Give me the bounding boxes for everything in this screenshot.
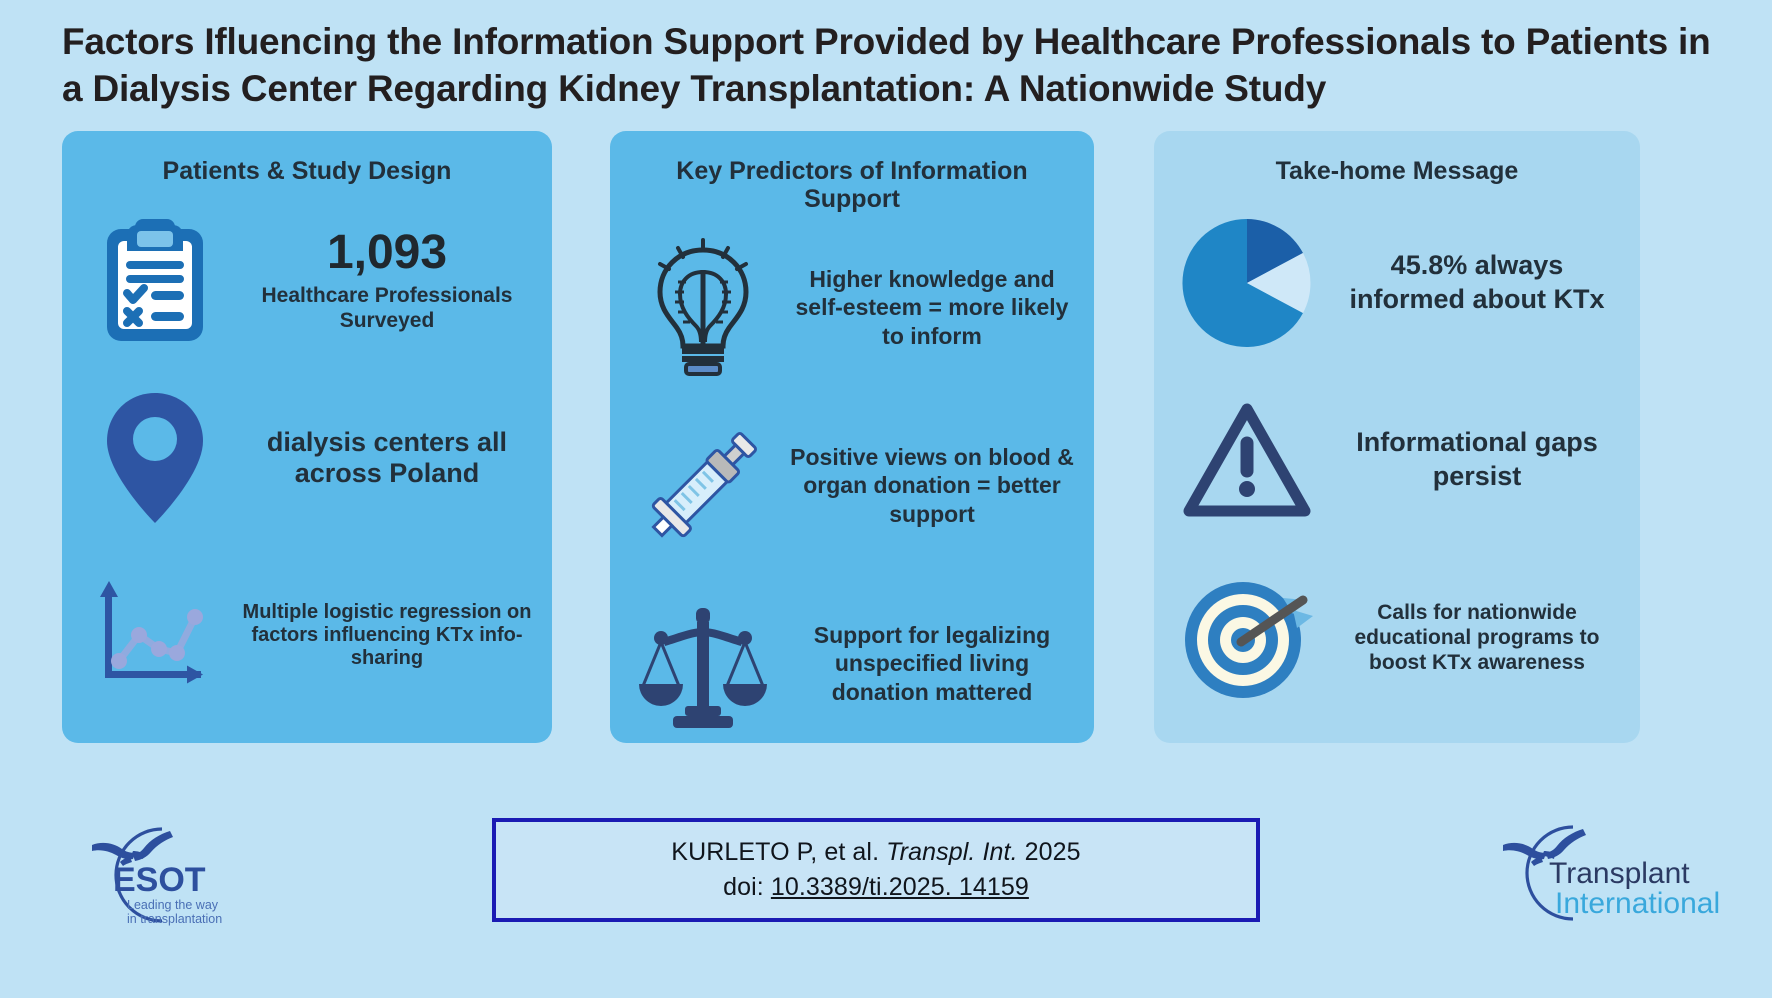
citation-reference: KURLETO P, et al. Transpl. Int. 2025 — [671, 838, 1080, 867]
stat-number-surveyed: 1,093 — [240, 229, 534, 277]
panel-heading-patients: Patients & Study Design — [80, 157, 534, 185]
svg-text:in transplantation: in transplantation — [127, 912, 222, 926]
panel-row-education-programs: Calls for nationwide educational program… — [1172, 548, 1622, 728]
panel-row-legalizing: Support for legalizing unspecified livin… — [628, 575, 1076, 753]
citation-doi-line: doi: 10.3389/ti.2025. 14159 — [723, 873, 1029, 902]
citation-year: 2025 — [1025, 838, 1081, 866]
title-section: Factors Ifluencing the Information Suppo… — [0, 0, 1772, 119]
clipboard-checklist-icon — [80, 213, 230, 349]
svg-text:ESOT: ESOT — [113, 861, 206, 899]
ti-line1: Transplant — [1549, 857, 1690, 890]
target-arrow-icon — [1172, 570, 1322, 706]
map-pin-icon — [80, 389, 230, 527]
citation-box: KURLETO P, et al. Transpl. Int. 2025 doi… — [492, 818, 1260, 922]
syringe-icon — [628, 416, 778, 556]
doi-link[interactable]: 10.3389/ti.2025. 14159 — [771, 873, 1029, 901]
panel-row-surveyed: 1,093 Healthcare Professionals Surveyed — [80, 191, 534, 371]
panel-heading-takehome: Take-home Message — [1172, 157, 1622, 185]
panel-row-knowledge: Higher knowledge and self-esteem = more … — [628, 219, 1076, 397]
scales-balance-icon — [628, 594, 778, 734]
panel-row-regression: Multiple logistic regression on factors … — [80, 546, 534, 726]
legalizing-text: Support for legalizing unspecified livin… — [788, 621, 1076, 707]
panel-row-centers: dialysis centers all across Poland — [80, 371, 534, 546]
stat-label-surveyed: Healthcare Professionals Surveyed — [240, 283, 534, 333]
panel-row-always-informed: 45.8% always informed about KTx — [1172, 193, 1622, 373]
panel-take-home-message: Take-home Message 45.8% always informed … — [1154, 131, 1640, 743]
panel-patients-study-design: Patients & Study Design — [62, 131, 552, 743]
pie-chart-icon — [1172, 215, 1322, 351]
donation-views-text: Positive views on blood & organ donation… — [788, 443, 1076, 529]
svg-text:Leading the way: Leading the way — [127, 898, 219, 912]
panels-container: Patients & Study Design — [0, 119, 1772, 743]
esot-logo: ESOT Leading the way in transplantation — [60, 817, 270, 929]
footer: ESOT Leading the way in transplantation … — [0, 743, 1772, 998]
page-title: Factors Ifluencing the Information Suppo… — [62, 18, 1717, 113]
panel-row-gaps: Informational gaps persist — [1172, 373, 1622, 548]
lightbulb-brain-icon — [628, 238, 778, 378]
citation-journal: Transpl. Int. — [886, 838, 1017, 866]
regression-text: Multiple logistic regression on factors … — [240, 601, 534, 671]
panel-key-predictors: Key Predictors of Information Support — [610, 131, 1094, 743]
citation-authors: KURLETO P, et al. — [671, 838, 879, 866]
knowledge-text: Higher knowledge and self-esteem = more … — [788, 265, 1076, 351]
warning-triangle-icon — [1172, 399, 1322, 521]
doi-label: doi: — [723, 873, 764, 901]
centers-text: dialysis centers all across Poland — [240, 427, 534, 490]
panel-row-donation-views: Positive views on blood & organ donation… — [628, 397, 1076, 575]
transplant-international-logo: Transplant International — [1482, 817, 1732, 929]
panel-heading-predictors: Key Predictors of Information Support — [628, 157, 1076, 213]
always-informed-text: 45.8% always informed about KTx — [1332, 249, 1622, 317]
gaps-text: Informational gaps persist — [1332, 426, 1622, 494]
infographic-root: Factors Ifluencing the Information Suppo… — [0, 0, 1772, 998]
ti-line2: International — [1555, 887, 1720, 920]
line-chart-icon — [80, 573, 230, 699]
surveyed-text-block: 1,093 Healthcare Professionals Surveyed — [240, 229, 534, 333]
education-programs-text: Calls for nationwide educational program… — [1332, 600, 1622, 676]
